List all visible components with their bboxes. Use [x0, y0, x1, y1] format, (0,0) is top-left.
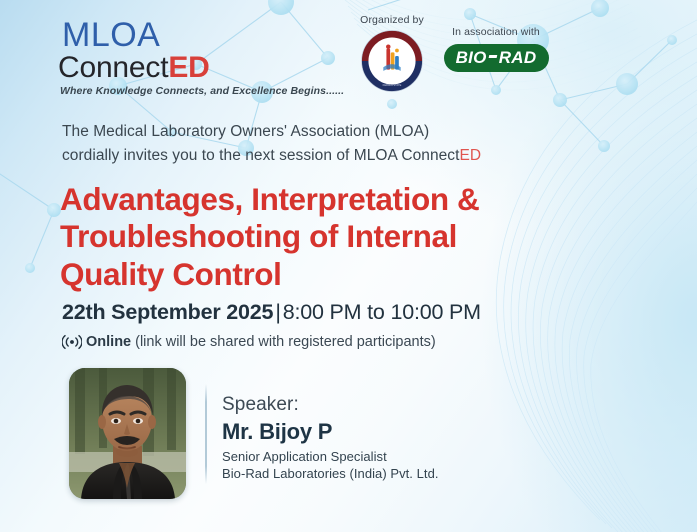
speaker-role: Senior Application Specialist	[222, 449, 439, 466]
speaker-organization: Bio-Rad Laboratories (India) Pvt. Ltd.	[222, 466, 439, 483]
association-block: In association with BIO RAD	[432, 26, 560, 72]
association-label: In association with	[432, 26, 560, 38]
page-title: Advantages, Interpretation & Troubleshoo…	[60, 181, 590, 293]
speaker-photo	[69, 368, 186, 499]
event-mode-note: (link will be shared with registered par…	[135, 334, 436, 350]
invitation-text: The Medical Laboratory Owners' Associati…	[62, 120, 481, 168]
event-datetime: 22th September 2025|8:00 PM to 10:00 PM	[62, 300, 481, 325]
event-date: 22th September 2025	[62, 300, 273, 324]
title-line-3: Quality Control	[60, 256, 590, 293]
broadcast-icon	[62, 334, 82, 350]
speaker-portrait-image	[69, 368, 186, 499]
title-line-1: Advantages, Interpretation &	[60, 181, 590, 218]
organizer-label: Organized by	[340, 14, 444, 26]
svg-text:MLOA: MLOA	[382, 76, 402, 83]
invitation-line-2-prefix: cordially invites you to the next sessio…	[62, 147, 459, 164]
logo-connected-text: ConnectED	[58, 53, 344, 83]
event-mode-label: Online	[86, 334, 131, 350]
biorad-logo: BIO RAD	[444, 44, 549, 72]
organizer-block: Organized by MLOA KERALA STATE	[340, 14, 444, 92]
speaker-name: Mr. Bijoy P	[222, 418, 439, 447]
event-mode: Online (link will be shared with registe…	[62, 334, 436, 350]
mloa-connected-logo: MLOA ConnectED Where Knowledge Connects,…	[58, 18, 344, 97]
mloa-circular-emblem-icon: MLOA KERALA STATE	[361, 30, 423, 92]
invitation-line-2-ed: ED	[459, 147, 481, 164]
biorad-dash-icon	[488, 55, 497, 58]
speaker-label: Speaker:	[222, 393, 439, 417]
biorad-word-rad: RAD	[499, 48, 537, 68]
logo-mloa-text: MLOA	[62, 18, 344, 52]
title-line-2: Troubleshooting of Internal	[60, 218, 590, 255]
event-invitation-poster: MLOA ConnectED Where Knowledge Connects,…	[0, 0, 697, 532]
speaker-divider	[205, 384, 207, 484]
datetime-separator: |	[275, 300, 280, 324]
svg-text:KERALA STATE: KERALA STATE	[383, 83, 402, 87]
event-time: 8:00 PM to 10:00 PM	[283, 300, 481, 324]
invitation-line-1: The Medical Laboratory Owners' Associati…	[62, 120, 481, 144]
logo-ed-part: ED	[168, 51, 209, 84]
biorad-word-bio: BIO	[456, 48, 487, 68]
invitation-line-2: cordially invites you to the next sessio…	[62, 144, 481, 168]
logo-connect-part: Connect	[58, 51, 168, 84]
speaker-info: Speaker: Mr. Bijoy P Senior Application …	[222, 393, 439, 483]
logo-tagline: Where Knowledge Connects, and Excellence…	[60, 86, 344, 97]
